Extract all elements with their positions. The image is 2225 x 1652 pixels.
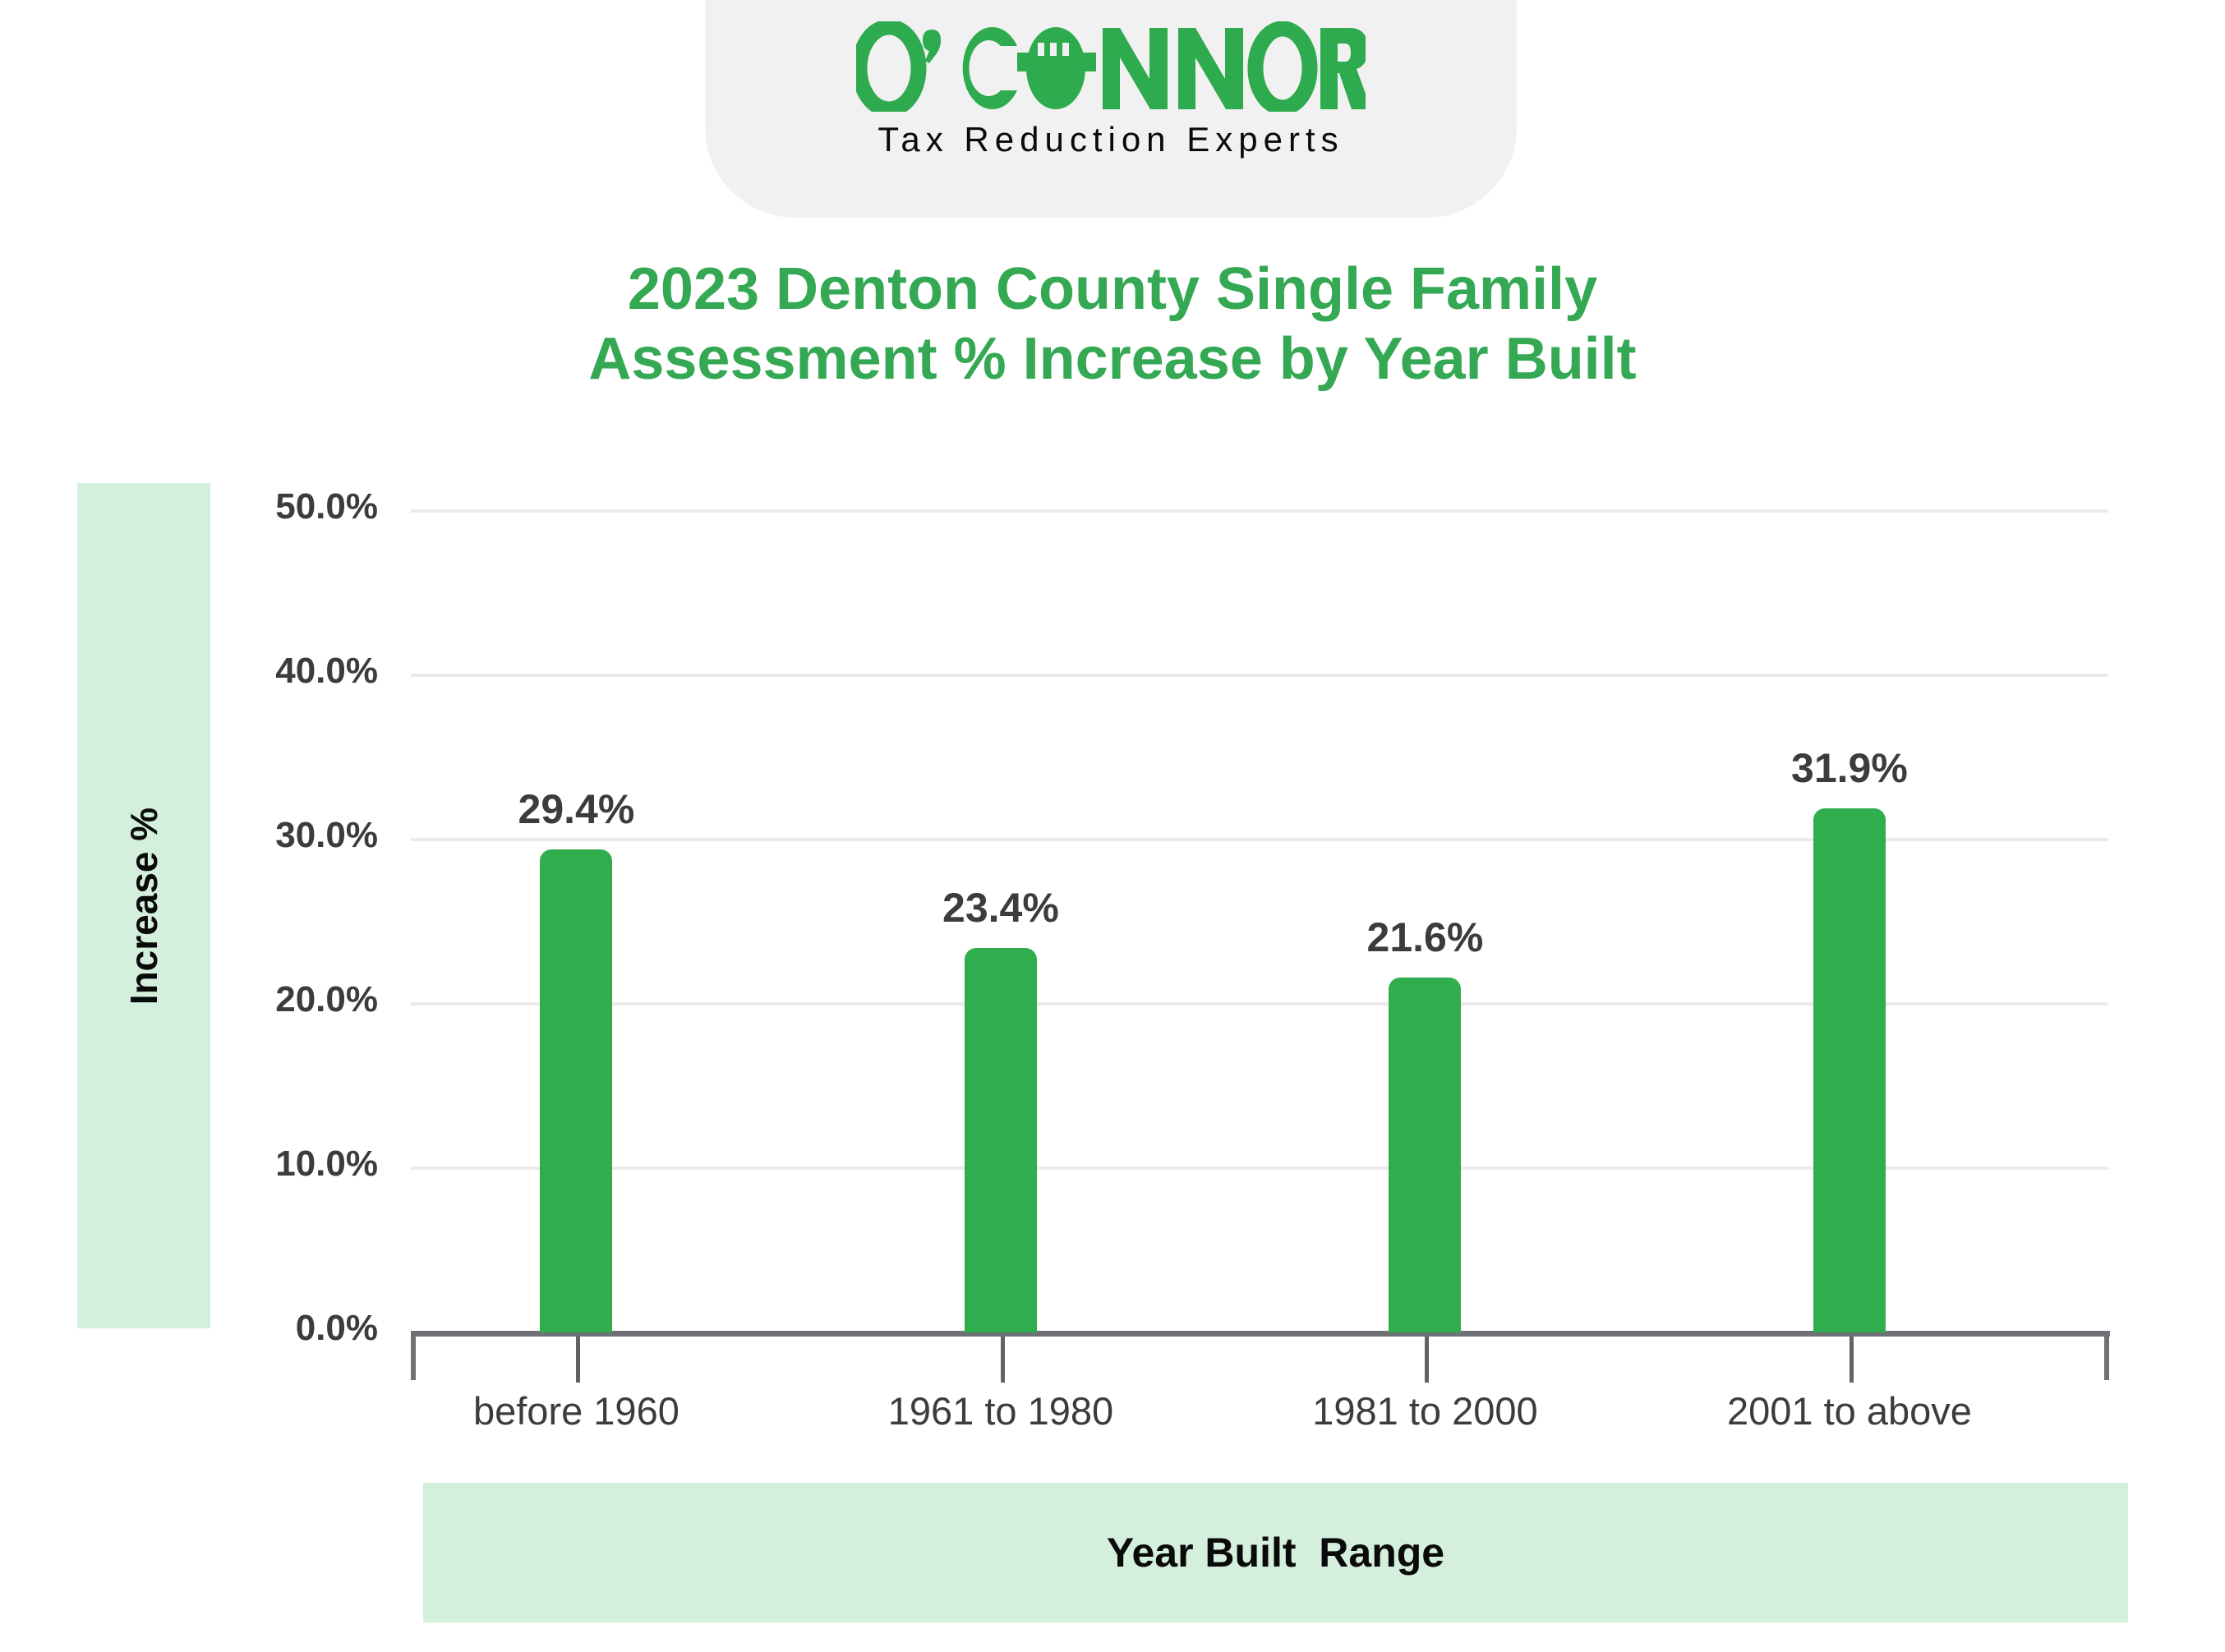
page-title-line-1: 2023 Denton County Single Family (0, 255, 2225, 324)
bar-value-label: 29.4% (445, 785, 707, 833)
x-axis-category-label: before 1960 (362, 1388, 790, 1433)
y-axis-title-text: Increase % (122, 807, 166, 1004)
bar[interactable] (1389, 978, 1461, 1332)
bar[interactable] (540, 849, 612, 1332)
x-axis-category-label: 2001 to above (1636, 1388, 2063, 1433)
x-axis-right-cap (2104, 1331, 2109, 1380)
gridline (411, 509, 2108, 513)
x-axis-category-label: 1981 to 2000 (1211, 1388, 1638, 1433)
x-axis-left-cap (411, 1331, 416, 1380)
bar[interactable] (1813, 808, 1886, 1332)
page-title-line-2: Assessment % Increase by Year Built (0, 324, 2225, 394)
y-axis-title: Increase % (77, 483, 210, 1328)
x-axis-tick (576, 1337, 580, 1383)
x-axis-tick (1425, 1337, 1429, 1383)
x-axis-title: Year Built Range (423, 1483, 2128, 1622)
bar-value-label: 21.6% (1293, 913, 1556, 961)
x-axis-tick (1850, 1337, 1854, 1383)
bar-value-label: 23.4% (869, 884, 1132, 932)
x-axis-tick (1001, 1337, 1005, 1383)
bar-value-label: 31.9% (1718, 744, 1981, 792)
gridline (411, 674, 2108, 677)
bar[interactable] (965, 948, 1037, 1332)
chart-canvas: 0.0%10.0%20.0%30.0%40.0%50.0%29.4%before… (0, 0, 2225, 1652)
page-title: 2023 Denton County Single Family Assessm… (0, 255, 2225, 394)
x-axis-category-label: 1961 to 1980 (787, 1388, 1214, 1433)
